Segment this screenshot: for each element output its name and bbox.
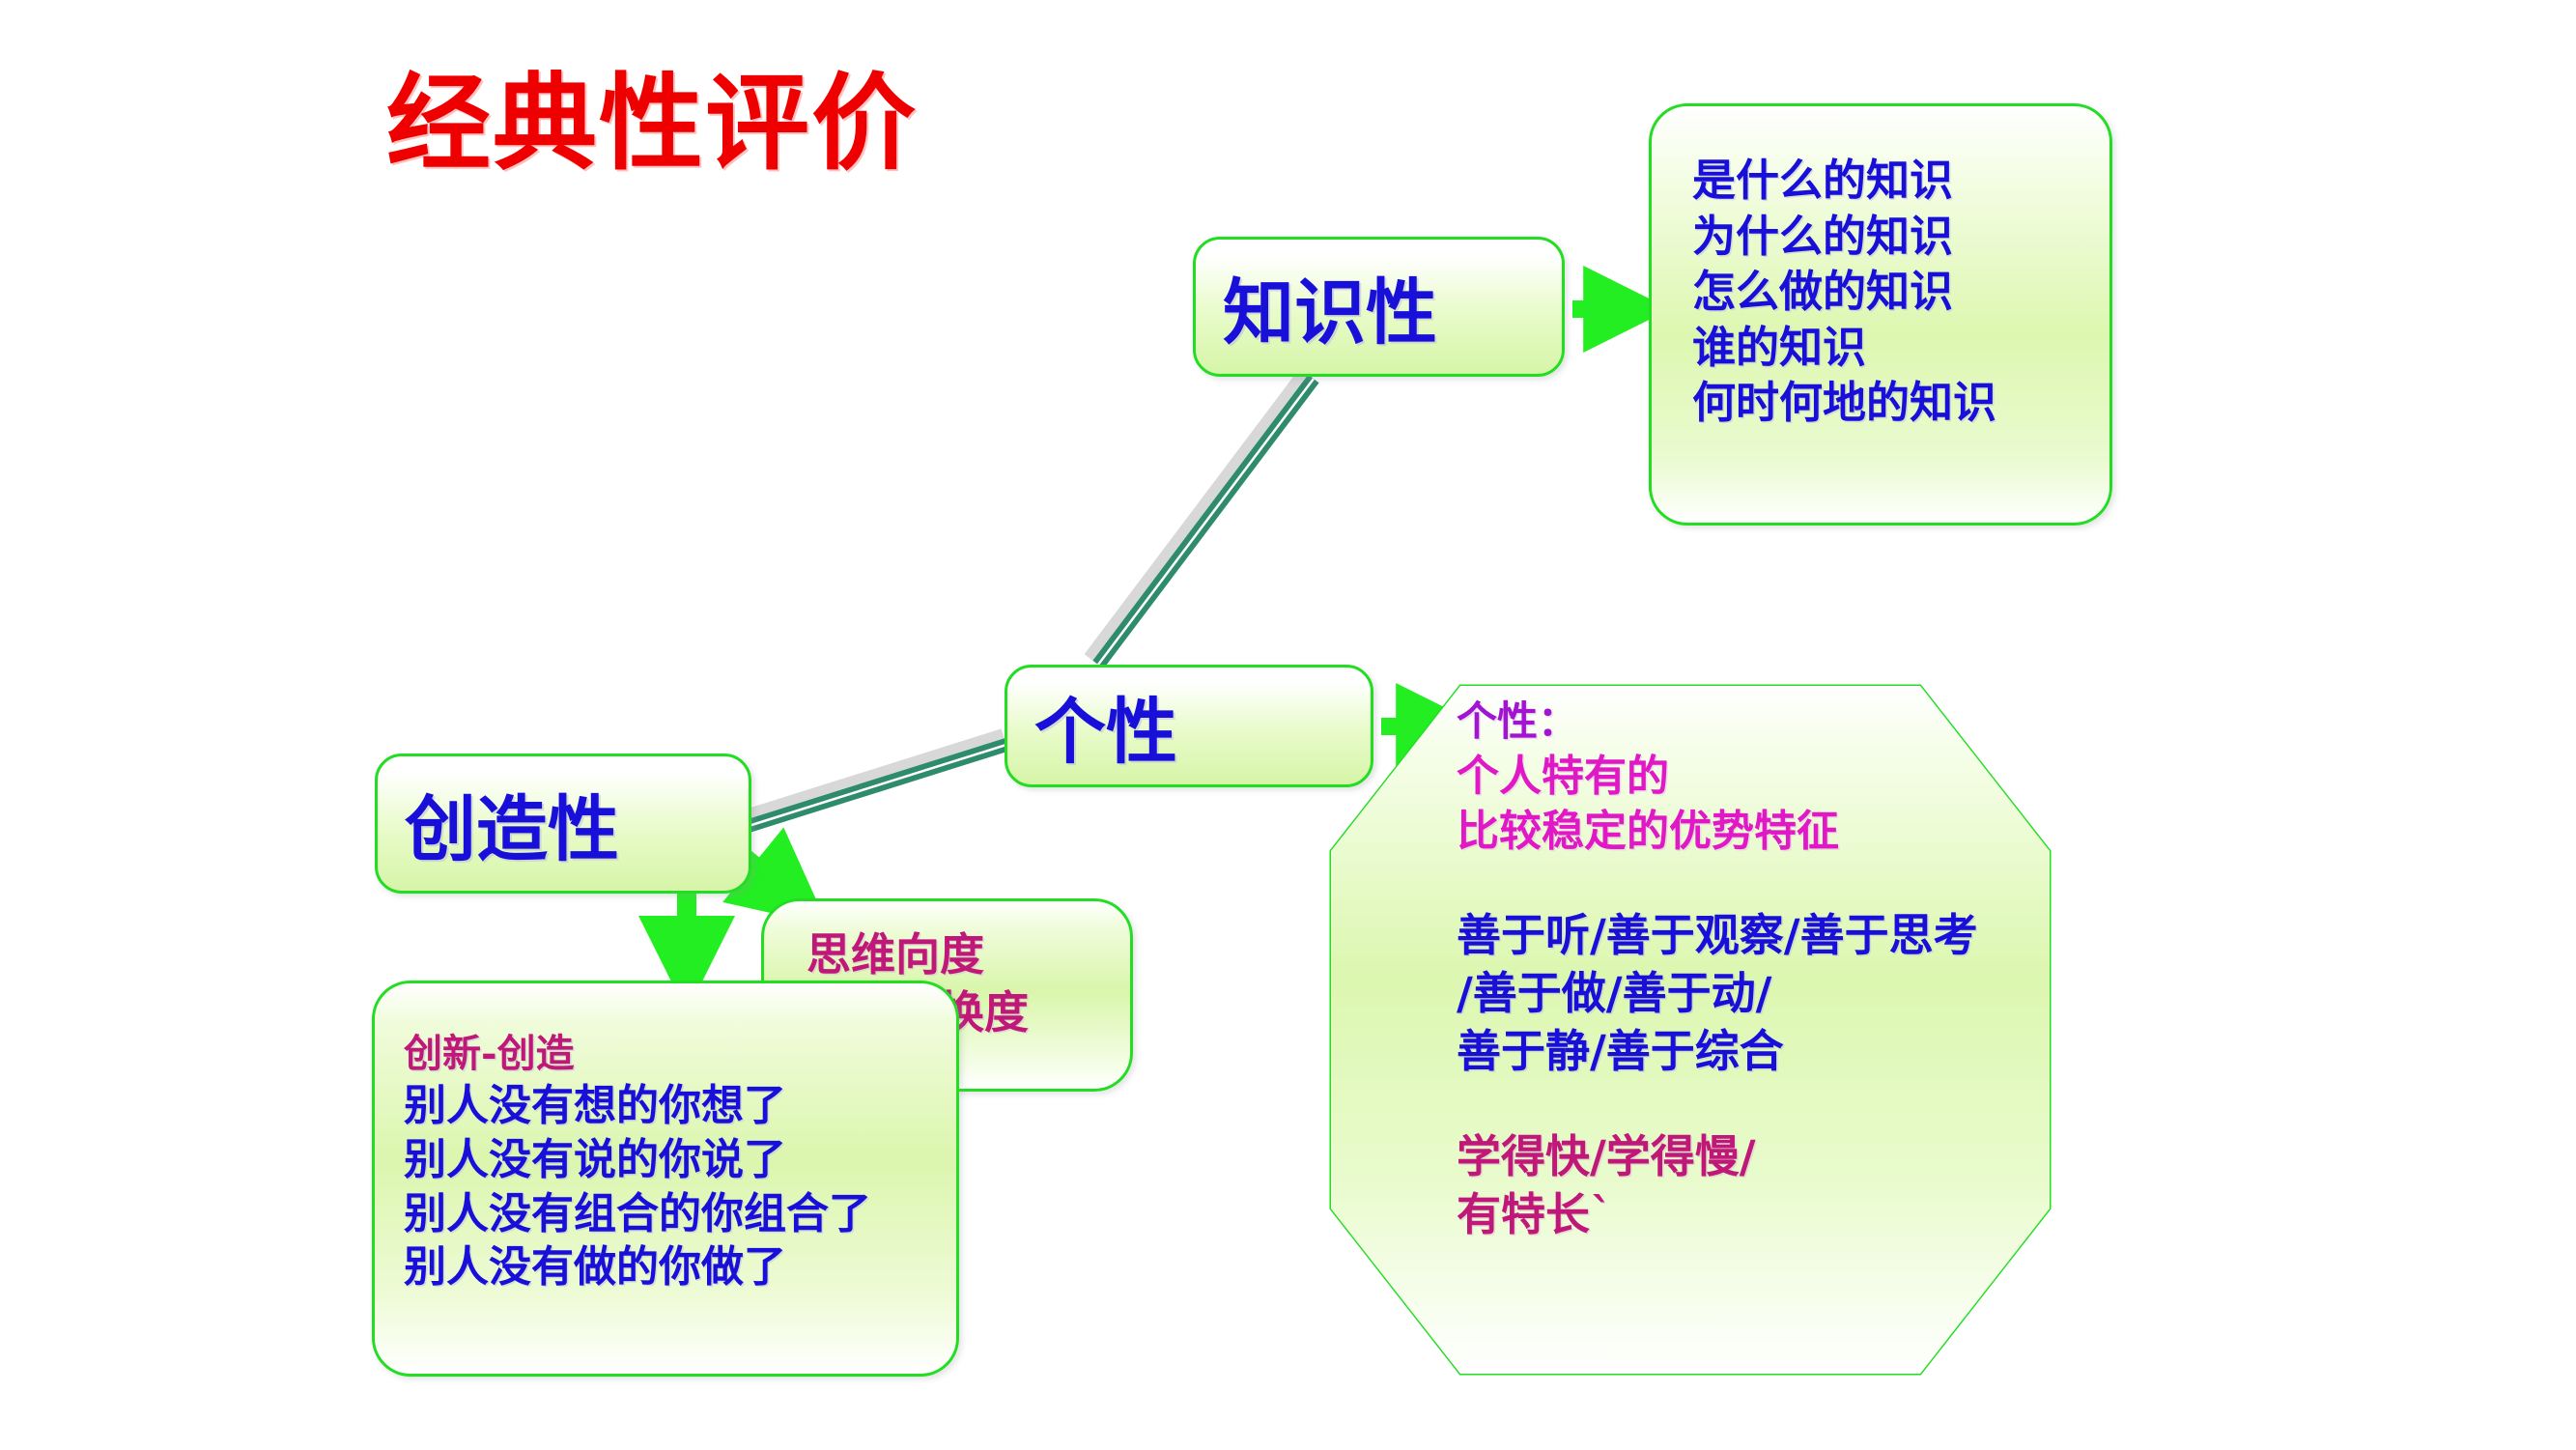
- knowledge-detail-line: 何时何地的知识: [1692, 375, 2109, 431]
- node-knowledge-label: 知识性: [1223, 255, 1437, 358]
- panel-innovation-detail[interactable]: 创新-创造 别人没有想的你想了 别人没有说的你说了 别人没有组合的你组合了 别人…: [372, 981, 959, 1377]
- personality-detail-line: 个人特有的: [1457, 749, 2191, 804]
- knowledge-detail-line: 为什么的知识: [1692, 209, 2109, 265]
- innovation-detail-heading: 创新-创造: [404, 1030, 956, 1079]
- knowledge-detail-line: 怎么做的知识: [1692, 264, 2109, 320]
- node-personality-label: 个性: [1034, 674, 1177, 778]
- personality-strength-line: 善于听/善于观察/善于思考: [1457, 907, 2191, 965]
- personality-strength-line: 善于静/善于综合: [1457, 1023, 2191, 1081]
- innovation-detail-line: 别人没有想的你想了: [404, 1079, 956, 1133]
- connector-creativity-personality: [743, 736, 1009, 826]
- slide-canvas: 经典性评价 知识性 个性 创造性 是什么的知识 为什么的知识 怎么做的知识 谁的…: [0, 0, 2576, 1450]
- personality-detail-line: 比较稳定的优势特征: [1457, 804, 2191, 859]
- node-knowledge[interactable]: 知识性: [1193, 237, 1565, 377]
- innovation-detail-line: 别人没有做的你做了: [404, 1240, 956, 1294]
- spacer: [1457, 1080, 2191, 1128]
- panel-knowledge-detail[interactable]: 是什么的知识 为什么的知识 怎么做的知识 谁的知识 何时何地的知识: [1649, 103, 2112, 526]
- personality-learning-line: 学得快/学得慢/: [1457, 1128, 2191, 1186]
- personality-strength-line: /善于做/善于动/: [1457, 965, 2191, 1023]
- node-personality[interactable]: 个性: [1005, 665, 1373, 787]
- personality-learning-line: 有特长`: [1457, 1186, 2191, 1244]
- knowledge-detail-line: 谁的知识: [1692, 320, 2109, 376]
- page-title: 经典性评价: [386, 70, 918, 179]
- connector-personality-knowledge: [1090, 373, 1314, 665]
- node-creativity-label: 创造性: [405, 772, 619, 875]
- knowledge-detail-line: 是什么的知识: [1692, 153, 2109, 209]
- innovation-detail-line: 别人没有组合的你组合了: [404, 1187, 956, 1241]
- personality-detail-title: 个性：: [1457, 696, 2191, 749]
- spacer: [1457, 859, 2191, 907]
- thinking-dimension-line: 思维向度: [807, 926, 1130, 984]
- octagon-text-block: 个性： 个人特有的 比较稳定的优势特征 善于听/善于观察/善于思考 /善于做/善…: [1457, 696, 2191, 1244]
- innovation-detail-line: 别人没有说的你说了: [404, 1133, 956, 1187]
- node-creativity[interactable]: 创造性: [375, 753, 751, 894]
